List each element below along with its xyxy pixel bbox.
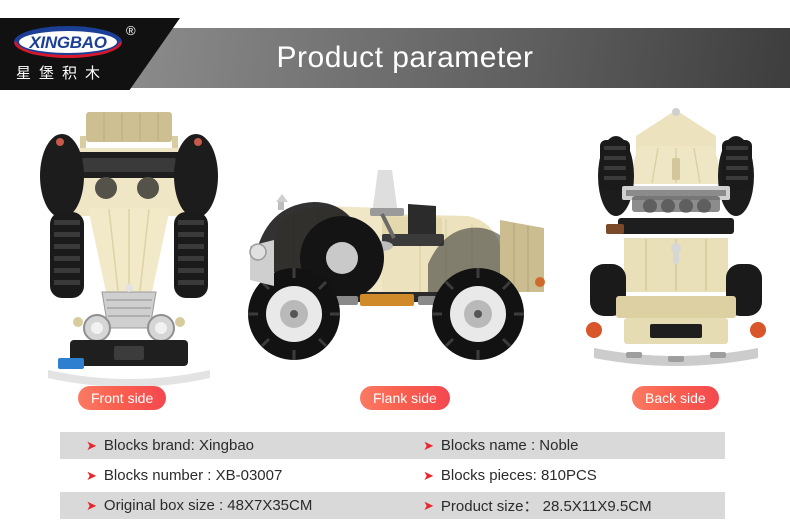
caption-front-side: Front side <box>78 386 166 410</box>
parameter-cell-name: ➤ Blocks name : Noble <box>405 432 725 459</box>
arrow-bullet-icon: ➤ <box>423 439 434 452</box>
parameter-row: ➤ Original box size : 48X7X35CM ➤ Produc… <box>60 492 725 519</box>
parameter-cell-box-size: ➤ Original box size : 48X7X35CM <box>60 492 405 519</box>
parameter-text: Blocks brand: Xingbao <box>104 437 254 454</box>
parameter-text: Original box size : 48X7X35CM <box>104 497 312 514</box>
logo-oval-face: XINGBAO <box>19 31 117 53</box>
caption-back-side: Back side <box>632 386 719 410</box>
arrow-bullet-icon: ➤ <box>86 439 97 452</box>
product-photo-front <box>14 96 244 386</box>
logo-wordmark: XINGBAO <box>29 34 106 51</box>
car-front-illustration <box>14 96 244 386</box>
parameter-row: ➤ Blocks number : XB-03007 ➤ Blocks piec… <box>60 462 725 489</box>
page-title: Product parameter <box>120 28 790 88</box>
car-back-illustration <box>566 96 786 386</box>
parameter-text: Blocks name : Noble <box>441 437 579 454</box>
parameter-cell-number: ➤ Blocks number : XB-03007 <box>60 462 405 489</box>
page-header: XINGBAO ® 星堡积木 Product parameter <box>0 18 790 90</box>
parameter-text: Blocks pieces: 810PCS <box>441 467 597 484</box>
car-flank-illustration <box>232 96 562 386</box>
parameter-row: ➤ Blocks brand: Xingbao ➤ Blocks name : … <box>60 432 725 459</box>
parameter-cell-brand: ➤ Blocks brand: Xingbao <box>60 432 405 459</box>
arrow-bullet-icon: ➤ <box>423 469 434 482</box>
parameter-table: ➤ Blocks brand: Xingbao ➤ Blocks name : … <box>60 432 725 522</box>
arrow-bullet-icon: ➤ <box>423 499 434 512</box>
parameter-cell-pieces: ➤ Blocks pieces: 810PCS <box>405 462 725 489</box>
registered-trademark-icon: ® <box>126 24 136 37</box>
parameter-text: Product size： 28.5X11X9.5CM <box>441 495 652 516</box>
arrow-bullet-icon: ➤ <box>86 469 97 482</box>
arrow-bullet-icon: ➤ <box>86 499 97 512</box>
photo-captions: Front side Flank side Back side <box>0 386 790 418</box>
xingbao-logo: XINGBAO <box>14 26 122 58</box>
product-photo-flank <box>232 96 562 386</box>
logo-chinese-name: 星堡积木 <box>16 62 108 83</box>
product-photo-back <box>566 96 786 386</box>
product-photo-row <box>0 96 790 386</box>
parameter-text: Blocks number : XB-03007 <box>104 467 282 484</box>
caption-flank-side: Flank side <box>360 386 450 410</box>
parameter-cell-product-size: ➤ Product size： 28.5X11X9.5CM <box>405 492 725 519</box>
